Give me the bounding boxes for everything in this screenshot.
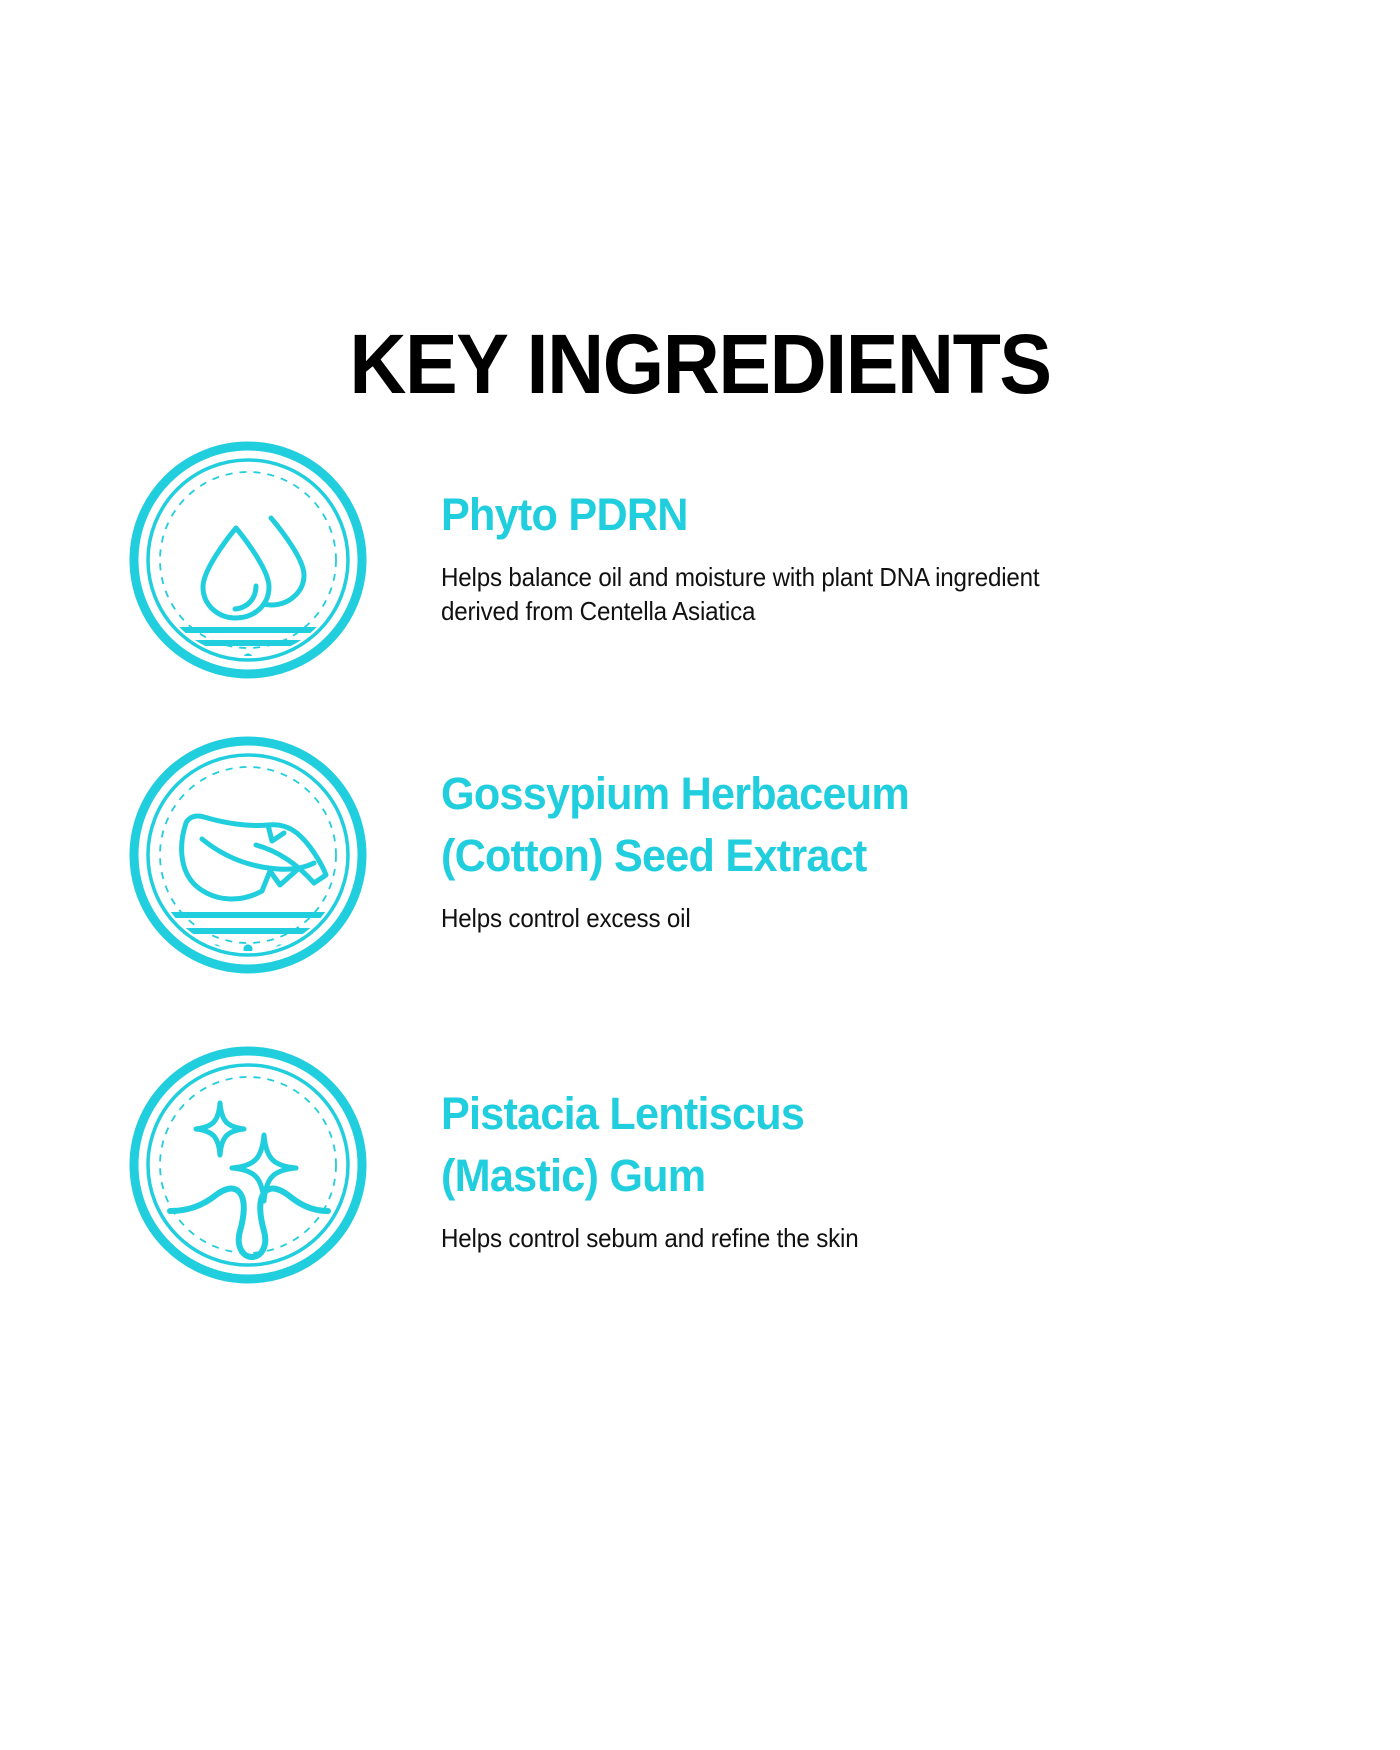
ingredient-description: Helps control excess oil bbox=[441, 901, 1148, 935]
ingredient-text-block: Phyto PDRN Helps balance oil and moistur… bbox=[441, 484, 1201, 628]
ingredient-description: Helps control sebum and refine the skin bbox=[441, 1221, 1148, 1255]
ingredient-item: Gossypium Herbaceum (Cotton) Seed Extrac… bbox=[0, 735, 1400, 995]
ingredient-description: Helps balance oil and moisture with plan… bbox=[441, 560, 1148, 628]
leaf-skin-layer-icon bbox=[128, 735, 368, 975]
ingredient-name: Pistacia Lentiscus (Mastic) Gum bbox=[441, 1083, 1171, 1207]
page-title: KEY INGREDIENTS bbox=[42, 318, 1358, 410]
ingredient-text-block: Pistacia Lentiscus (Mastic) Gum Helps co… bbox=[441, 1083, 1201, 1255]
key-ingredients-page: KEY INGREDIENTS bbox=[0, 0, 1400, 1750]
ingredient-name: Gossypium Herbaceum (Cotton) Seed Extrac… bbox=[441, 763, 1171, 887]
water-drops-skin-layer-icon bbox=[128, 440, 368, 680]
ingredient-name: Phyto PDRN bbox=[441, 484, 1171, 546]
ingredient-item: Pistacia Lentiscus (Mastic) Gum Helps co… bbox=[0, 1045, 1400, 1305]
ingredient-text-block: Gossypium Herbaceum (Cotton) Seed Extrac… bbox=[441, 763, 1201, 935]
ingredient-item: Phyto PDRN Helps balance oil and moistur… bbox=[0, 440, 1400, 700]
sparkle-pore-icon bbox=[128, 1045, 368, 1285]
